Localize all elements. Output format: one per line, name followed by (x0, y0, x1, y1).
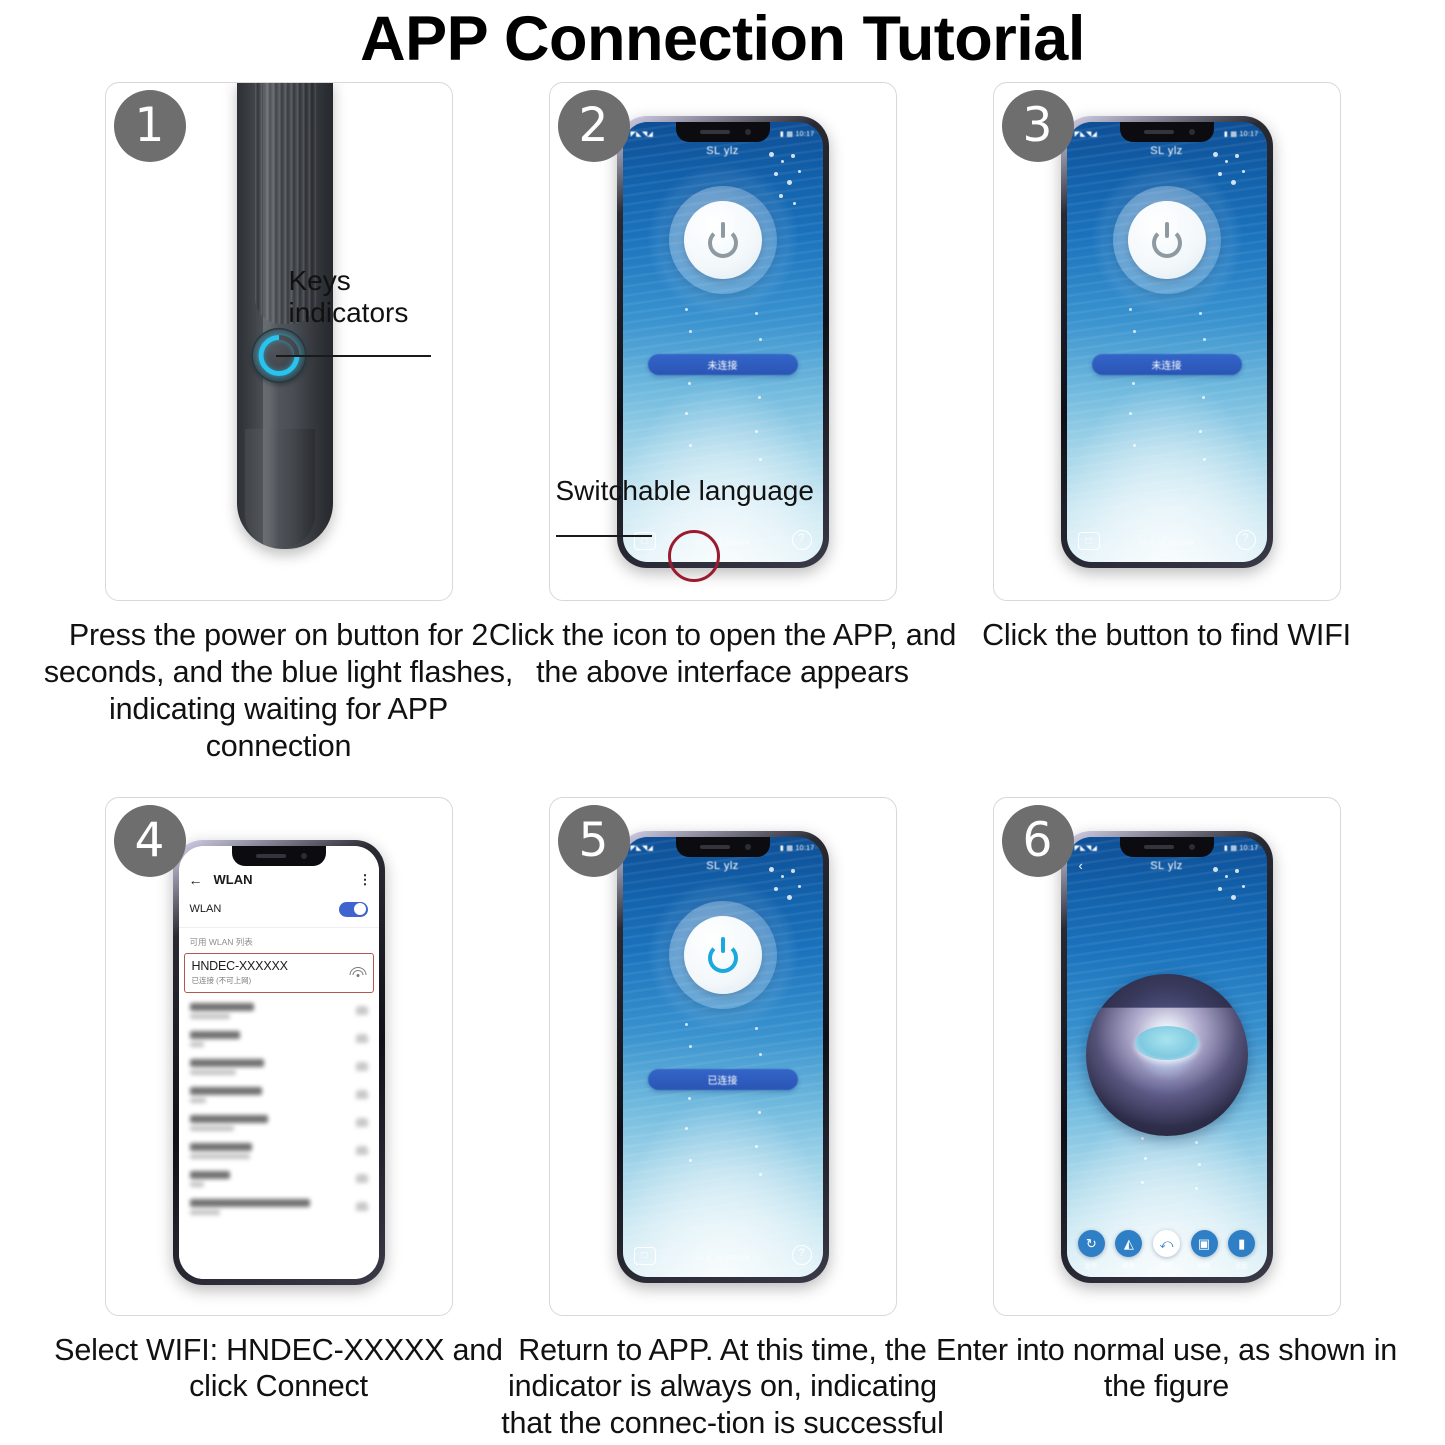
toolbar-label-flip: 翻转 (1160, 1260, 1174, 1270)
wifi-icon (356, 1202, 368, 1211)
mirror-icon: ◭ (1115, 1230, 1142, 1257)
selected-wifi-network[interactable]: HNDEC-XXXXXX 已连接 (不可上网) (184, 953, 374, 993)
status-bar-right: ▮ ▩ 10:17 (1224, 844, 1259, 852)
camera-toolbar: ↻ 旋转 ◭ 镜像 ⤺ 翻转 (1067, 1230, 1267, 1270)
status-bar-left: ◤◣◥◢ (1075, 844, 1098, 852)
help-icon[interactable]: ? (792, 1245, 812, 1265)
switchable-leader-line (556, 535, 652, 537)
step-panel-4: ← WLAN ⋮ WLAN 可用 WLA (105, 797, 453, 1316)
earpiece-speaker (256, 854, 286, 858)
toolbar-label-photo: 拍照 (1197, 1260, 1211, 1270)
phone-status-bar: ◤◣◥◢ ▮ ▩ 10:17 (623, 840, 823, 857)
power-icon (705, 222, 741, 258)
selected-wifi-state: 已连接 (不可上网) (192, 975, 351, 986)
step-cell-4: ← WLAN ⋮ WLAN 可用 WLA (57, 797, 501, 1443)
power-icon-bar (1165, 222, 1169, 238)
wifi-icon (351, 966, 366, 978)
wifi-icon (356, 1118, 368, 1127)
wlan-screen-body: ← WLAN ⋮ WLAN 可用 WLA (179, 846, 379, 1279)
help-icon[interactable]: ? (792, 530, 812, 550)
power-icon-bar (721, 222, 725, 238)
phone-status-bar: ◤◣◥◢ ▮ ▩ 10:17 (1067, 125, 1267, 142)
app-title-6: SL ylz (1067, 860, 1267, 872)
status-bar-left: ◤◣◥◢ (631, 844, 654, 852)
power-icon-bar (721, 937, 725, 953)
wifi-dot (357, 974, 360, 977)
endoscope-camera-view (1086, 974, 1248, 1136)
power-icon (1149, 222, 1185, 258)
app-power-button-5[interactable] (648, 880, 798, 1030)
toolbar-button-mirror[interactable]: ◭ 镜像 (1112, 1230, 1146, 1270)
wlan-settings-screen: ← WLAN ⋮ WLAN 可用 WLA (179, 846, 379, 1279)
keys-indicators-label: Keys indicators (289, 265, 444, 330)
status-bar-right: ▮ ▩ 10:17 (780, 844, 815, 852)
step-cell-5: ◤◣◥◢ ▮ ▩ 10:17 SL ylz (501, 797, 945, 1443)
wifi-icon (356, 1146, 368, 1155)
toolbar-button-photo[interactable]: ▣ 拍照 (1187, 1230, 1221, 1270)
toolbar-button-rotate[interactable]: ↻ 旋转 (1074, 1230, 1108, 1270)
power-button-face (684, 916, 762, 994)
toolbar-button-video[interactable]: ▮ 录影 (1225, 1230, 1259, 1270)
app-title-3: SL ylz (1067, 145, 1267, 157)
rotate-icon: ↻ (1078, 1230, 1105, 1257)
step-caption-4: Select WIFI: HNDEC-XXXXX and click Conne… (44, 1332, 514, 1406)
power-button-face (1128, 201, 1206, 279)
step-cell-2: ◤◣◥◢ ▮ ▩ 10:17 SL ylz (501, 82, 945, 765)
connection-status-button-3[interactable]: 未连接 (1092, 354, 1242, 375)
list-item[interactable] (184, 1081, 374, 1109)
phone-mockup-4: ← WLAN ⋮ WLAN 可用 WLA (173, 840, 385, 1285)
step-caption-1: Press the power on button for 2 seconds,… (44, 617, 514, 765)
keys-label-line-1: Keys (289, 265, 444, 297)
power-icon (705, 937, 741, 973)
device-lower-edge (245, 429, 315, 549)
camera-icon: ▣ (1191, 1230, 1218, 1257)
toolbar-button-flip[interactable]: ⤺ 翻转 (1149, 1230, 1183, 1270)
step-badge-3: 3 (1002, 90, 1074, 162)
back-icon[interactable]: ← (189, 872, 203, 888)
flip-icon: ⤺ (1153, 1230, 1180, 1257)
step-panel-1: Keys indicators 1 (105, 82, 453, 601)
phone-mockup-5: ◤◣◥◢ ▮ ▩ 10:17 SL ylz (617, 831, 829, 1283)
step-panel-5: ◤◣◥◢ ▮ ▩ 10:17 SL ylz (549, 797, 897, 1316)
list-item[interactable] (184, 1053, 374, 1081)
connection-status-button-2[interactable]: 未连接 (648, 354, 798, 375)
step-caption-3: Click the button to find WIFI (932, 617, 1402, 654)
power-button-halo (669, 901, 777, 1009)
list-item[interactable] (184, 1137, 374, 1165)
list-item[interactable] (184, 1025, 374, 1053)
step-cell-1: Keys indicators 1 Press the power on but… (57, 82, 501, 765)
status-bar-right: ▮ ▩ 10:17 (780, 130, 815, 138)
status-bar-left: ◤◣◥◢ (631, 130, 654, 138)
steps-row-top: Keys indicators 1 Press the power on but… (0, 82, 1445, 765)
phone-status-bar: ◤◣◥◢ ▮ ▩ 10:17 (623, 125, 823, 142)
language-highlight-circle (668, 530, 720, 582)
step-caption-2: Click the icon to open the APP, and the … (488, 617, 958, 691)
step-badge-5: 5 (558, 805, 630, 877)
wlan-toggle-row[interactable]: WLAN (179, 894, 379, 928)
step-badge-4: 4 (114, 805, 186, 877)
bubbles-decoration (1209, 865, 1255, 931)
selected-wifi-text: HNDEC-XXXXXX 已连接 (不可上网) (192, 959, 351, 986)
app-screen-connected: ◤◣◥◢ ▮ ▩ 10:17 SL ylz (623, 837, 823, 1277)
list-item[interactable] (184, 1193, 374, 1221)
page-title: APP Connection Tutorial (0, 0, 1445, 71)
toggle-knob (354, 903, 366, 915)
toolbar-label-rotate: 旋转 (1084, 1260, 1098, 1270)
front-camera (301, 853, 307, 859)
help-icon[interactable]: ? (1236, 530, 1256, 550)
keys-leader-line (276, 355, 431, 357)
app-screen-find-wifi: ◤◣◥◢ ▮ ▩ 10:17 SL ylz (1067, 122, 1267, 562)
phone-mockup-6: ◤◣◥◢ ▮ ▩ 10:17 ‹ SL ylz (1061, 831, 1273, 1283)
phone-mockup-3: ◤◣◥◢ ▮ ▩ 10:17 SL ylz (1061, 116, 1273, 568)
wlan-toggle-label: WLAN (190, 903, 222, 915)
wifi-icon (356, 1174, 368, 1183)
status-bar-left: ◤◣◥◢ (1075, 130, 1098, 138)
power-button-face (684, 201, 762, 279)
step-panel-3: ◤◣◥◢ ▮ ▩ 10:17 SL ylz (993, 82, 1341, 601)
wlan-header-title: WLAN (214, 872, 253, 887)
language-icon[interactable]: ☐ (1078, 532, 1100, 550)
step-caption-6: Enter into normal use, as shown in the f… (932, 1332, 1402, 1406)
toolbar-label-mirror: 镜像 (1122, 1260, 1136, 1270)
language-icon[interactable]: ☐ (634, 1247, 656, 1265)
wifi-icon (356, 1006, 368, 1015)
wlan-toggle-switch[interactable] (339, 902, 368, 917)
keys-label-line-2: indicators (289, 297, 444, 329)
step-panel-2: ◤◣◥◢ ▮ ▩ 10:17 SL ylz (549, 82, 897, 601)
app-title-5: SL ylz (623, 860, 823, 872)
toolbar-label-video: 录影 (1235, 1260, 1249, 1270)
step-badge-2: 2 (558, 90, 630, 162)
step-badge-6: 6 (1002, 805, 1074, 877)
switchable-language-label: Switchable language (556, 475, 814, 507)
step-cell-3: ◤◣◥◢ ▮ ▩ 10:17 SL ylz (945, 82, 1389, 765)
video-icon: ▮ (1228, 1230, 1255, 1257)
list-item[interactable] (184, 1165, 374, 1193)
steps-row-bottom: ← WLAN ⋮ WLAN 可用 WLA (0, 797, 1445, 1443)
power-button-halo (669, 186, 777, 294)
connection-status-button-5[interactable]: 已连接 (648, 1069, 798, 1090)
wifi-icon (356, 1034, 368, 1043)
phone-status-bar: ◤◣◥◢ ▮ ▩ 10:17 (1067, 840, 1267, 857)
wifi-icon (356, 1090, 368, 1099)
step-panel-6: ◤◣◥◢ ▮ ▩ 10:17 ‹ SL ylz (993, 797, 1341, 1316)
selected-wifi-ssid: HNDEC-XXXXXX (192, 959, 351, 973)
app-screen-camera-view: ◤◣◥◢ ▮ ▩ 10:17 ‹ SL ylz (1067, 837, 1267, 1277)
step-cell-6: ◤◣◥◢ ▮ ▩ 10:17 ‹ SL ylz (945, 797, 1389, 1443)
app-title-2: SL ylz (623, 145, 823, 157)
list-item[interactable] (184, 997, 374, 1025)
steps-grid: Keys indicators 1 Press the power on but… (0, 82, 1445, 1442)
wifi-network-list (179, 993, 379, 1221)
app-power-button-3[interactable] (1092, 165, 1242, 315)
wifi-icon (356, 1062, 368, 1071)
status-bar-right: ▮ ▩ 10:17 (1224, 130, 1259, 138)
phone-notch (232, 846, 326, 866)
step-badge-1: 1 (114, 90, 186, 162)
list-item[interactable] (184, 1109, 374, 1137)
available-networks-header: 可用 WLAN 列表 (179, 928, 379, 953)
overflow-menu-icon[interactable]: ⋮ (359, 876, 369, 884)
power-button-halo (1113, 186, 1221, 294)
step-caption-5: Return to APP. At this time, the indicat… (488, 1332, 958, 1443)
app-power-button-2[interactable] (648, 165, 798, 315)
